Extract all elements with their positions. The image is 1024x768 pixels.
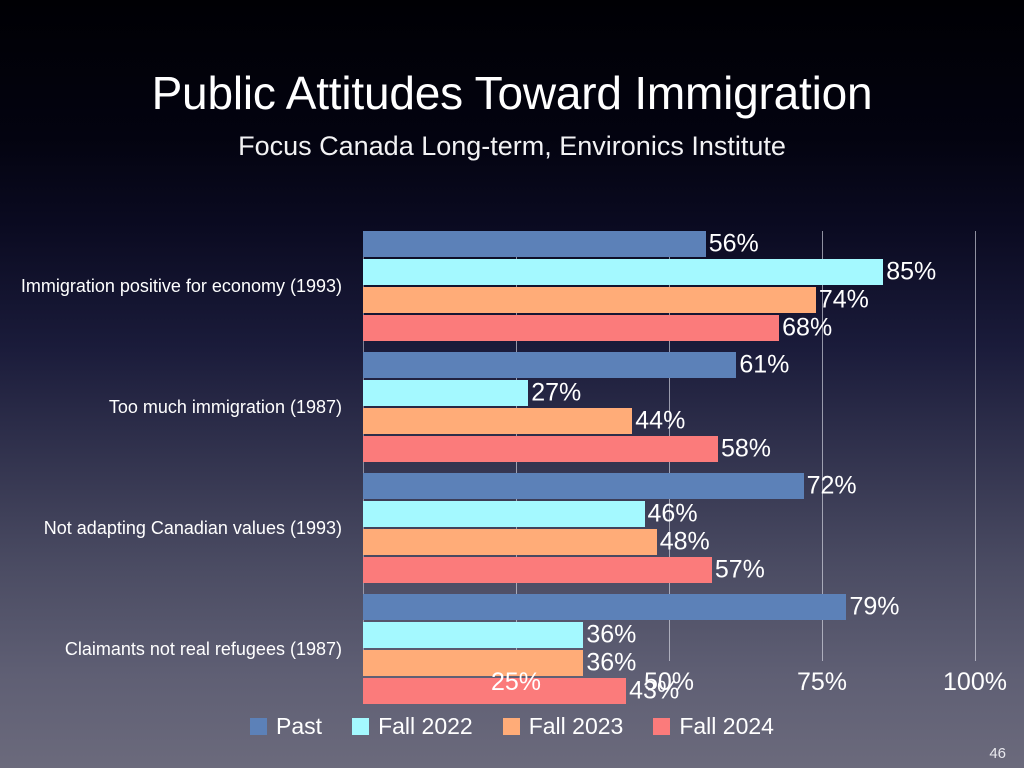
bar-value-label: 72%: [804, 474, 857, 499]
legend-item-fall-2023[interactable]: Fall 2023: [503, 715, 624, 738]
gridline-100pct: [975, 231, 976, 661]
bar-value-label: 48%: [657, 530, 710, 555]
category-label: Too much immigration (1987): [0, 398, 342, 416]
bar-rect: [363, 287, 816, 313]
legend-label: Fall 2022: [378, 715, 473, 738]
bar-rect: [363, 352, 736, 378]
bar-fall-2022[interactable]: 85%: [363, 259, 975, 285]
legend-label: Fall 2023: [529, 715, 624, 738]
bar-rect: [363, 501, 645, 527]
bar-fall-2023[interactable]: 48%: [363, 529, 975, 555]
bar-value-label: 58%: [718, 437, 771, 462]
bar-value-label: 57%: [712, 558, 765, 583]
bar-value-label: 85%: [883, 260, 936, 285]
legend-label: Past: [276, 715, 322, 738]
chart-legend: PastFall 2022Fall 2023Fall 2024: [0, 715, 1024, 738]
slide-canvas: Public Attitudes Toward Immigration Focu…: [0, 0, 1024, 768]
bar-group: 72%46%48%57%: [363, 473, 975, 583]
bar-fall-2023[interactable]: 74%: [363, 287, 975, 313]
bar-past[interactable]: 79%: [363, 594, 975, 620]
bar-rect: [363, 259, 883, 285]
legend-swatch-icon: [503, 718, 520, 735]
legend-item-past[interactable]: Past: [250, 715, 322, 738]
x-tick-100pct: 100%: [943, 670, 1007, 695]
bar-value-label: 46%: [645, 502, 698, 527]
bar-value-label: 36%: [583, 623, 636, 648]
x-tick-75pct: 75%: [797, 670, 847, 695]
bar-group: 56%85%74%68%: [363, 231, 975, 341]
bar-past[interactable]: 72%: [363, 473, 975, 499]
category-label: Immigration positive for economy (1993): [0, 277, 342, 295]
bar-value-label: 44%: [632, 409, 685, 434]
bar-rect: [363, 315, 779, 341]
bar-rect: [363, 557, 712, 583]
page-subtitle: Focus Canada Long-term, Environics Insti…: [0, 133, 1024, 160]
bar-value-label: 79%: [846, 595, 899, 620]
x-tick-25pct: 25%: [491, 670, 541, 695]
bar-past[interactable]: 56%: [363, 231, 975, 257]
bar-fall-2023[interactable]: 44%: [363, 408, 975, 434]
bar-fall-2022[interactable]: 36%: [363, 622, 975, 648]
legend-item-fall-2024[interactable]: Fall 2024: [653, 715, 774, 738]
bar-group: 61%27%44%58%: [363, 352, 975, 462]
bar-value-label: 56%: [706, 232, 759, 257]
bar-rect: [363, 380, 528, 406]
bar-fall-2024[interactable]: 58%: [363, 436, 975, 462]
bar-rect: [363, 436, 718, 462]
bar-value-label: 61%: [736, 353, 789, 378]
legend-swatch-icon: [250, 718, 267, 735]
bar-fall-2024[interactable]: 57%: [363, 557, 975, 583]
bar-fall-2024[interactable]: 68%: [363, 315, 975, 341]
x-tick-50pct: 50%: [644, 670, 694, 695]
x-axis-tick-labels: 25%50%75%100%: [363, 670, 975, 702]
category-label: Claimants not real refugees (1987): [0, 640, 342, 658]
bar-rect: [363, 529, 657, 555]
bar-rect: [363, 231, 706, 257]
page-title: Public Attitudes Toward Immigration: [0, 70, 1024, 116]
bar-fall-2022[interactable]: 27%: [363, 380, 975, 406]
bar-rect: [363, 594, 846, 620]
bar-value-label: 68%: [779, 316, 832, 341]
bar-past[interactable]: 61%: [363, 352, 975, 378]
legend-item-fall-2022[interactable]: Fall 2022: [352, 715, 473, 738]
bar-chart-plot-area: 56%85%74%68%61%27%44%58%72%46%48%57%79%3…: [363, 231, 975, 661]
bar-rect: [363, 622, 583, 648]
bar-value-label: 27%: [528, 381, 581, 406]
bar-rect: [363, 408, 632, 434]
legend-swatch-icon: [653, 718, 670, 735]
bar-rect: [363, 473, 804, 499]
bar-fall-2022[interactable]: 46%: [363, 501, 975, 527]
legend-label: Fall 2024: [679, 715, 774, 738]
page-number: 46: [989, 746, 1006, 761]
legend-swatch-icon: [352, 718, 369, 735]
bar-value-label: 74%: [816, 288, 869, 313]
category-label: Not adapting Canadian values (1993): [0, 519, 342, 537]
